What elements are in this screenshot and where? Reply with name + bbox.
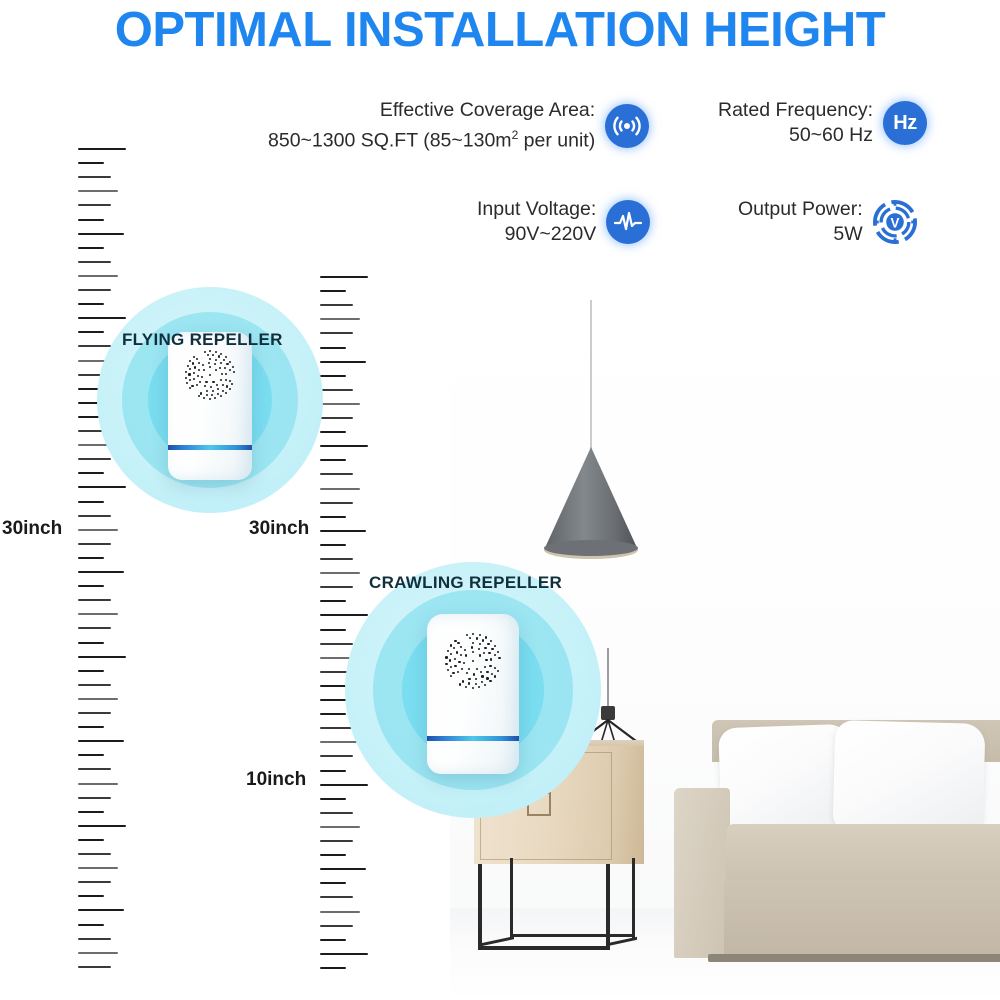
ruler-tick [78, 613, 118, 615]
ruler-tick [320, 488, 360, 490]
flying-repeller-device [168, 332, 252, 480]
ruler-tick [78, 599, 111, 601]
ruler-tick [320, 967, 346, 969]
nightstand-stretcher-back [510, 934, 635, 937]
ruler-tick [78, 740, 124, 742]
ruler-tick [78, 909, 124, 911]
spec-coverage-line2: 850~1300 SQ.FT (85~130m2 per unit) [268, 123, 595, 154]
spec-coverage-area: Effective Coverage Area: 850~1300 SQ.FT … [268, 98, 649, 154]
spec-voltage-line1: Input Voltage: [477, 198, 596, 220]
ruler-tick [320, 911, 360, 913]
ruler-tick [320, 798, 346, 800]
nightstand-stretcher-front [478, 946, 610, 950]
ruler-tick [78, 924, 104, 926]
ruler-tick [78, 881, 111, 883]
flying-repeller-group [96, 282, 324, 538]
ruler-tick [320, 473, 353, 475]
spec-frequency-text: Rated Frequency: 50~60 Hz [718, 98, 873, 148]
nightstand-leg-left [478, 864, 482, 950]
ruler-tick [78, 585, 104, 587]
ruler-tick [320, 770, 346, 772]
spec-voltage-line2: 90V~220V [477, 222, 596, 247]
ruler-tick [78, 783, 118, 785]
ruler-tick [78, 557, 104, 559]
ruler-tick [320, 318, 360, 320]
voltage-target-icon: V [873, 200, 917, 244]
ruler-tick [320, 445, 368, 447]
spec-frequency-line2: 50~60 Hz [718, 123, 873, 148]
ruler-tick [78, 204, 111, 206]
ruler-tick [78, 627, 111, 629]
svg-text:V: V [890, 215, 899, 230]
ruler-tick [78, 698, 118, 700]
flying-repeller-label: FLYING REPELLER [122, 330, 283, 350]
ruler-tick [320, 389, 353, 391]
ruler-tick [320, 882, 346, 884]
crawling-repeller-label: CRAWLING REPELLER [369, 573, 562, 593]
ruler-tick [78, 261, 111, 263]
hz-icon: Hz [883, 101, 927, 145]
spec-rated-frequency: Rated Frequency: 50~60 Hz Hz [718, 98, 927, 148]
ruler-tick [320, 276, 368, 278]
sofa-armrest [674, 788, 730, 958]
spec-power-text: Output Power: 5W [738, 197, 863, 247]
ruler-tick [78, 148, 126, 150]
ruler-tick [78, 684, 111, 686]
nightstand-leg-midback [510, 858, 513, 938]
ruler-tick [320, 544, 346, 546]
ruler-tick [320, 502, 353, 504]
ruler-tick [78, 811, 104, 813]
ruler-tick [78, 754, 104, 756]
nightstand-leg-midright [632, 858, 635, 938]
ruler-tick [320, 361, 366, 363]
ruler-tick [320, 925, 353, 927]
ruler-tick [320, 332, 353, 334]
flying-repeller-30inch-label: 30inch [249, 518, 309, 540]
ruler-tick [78, 642, 104, 644]
spec-power-line2: 5W [738, 222, 863, 247]
ruler-tick [78, 275, 118, 277]
ruler-tick [320, 629, 346, 631]
speaker-grille [184, 349, 236, 401]
ruler-tick [78, 571, 124, 573]
spec-frequency-line1: Rated Frequency: [718, 99, 873, 121]
ruler-tick [78, 670, 104, 672]
sofa-foot [708, 954, 1000, 962]
nightstand-stretcher-side-right [607, 937, 637, 946]
ruler-tick [78, 966, 111, 968]
ruler-left [78, 148, 126, 988]
ruler-left-30inch-label: 30inch [2, 518, 62, 540]
ruler-tick [78, 726, 104, 728]
ruler-tick [78, 162, 104, 164]
waveform-pulse-icon [606, 200, 650, 244]
ruler-tick [320, 868, 366, 870]
ruler-tick [320, 417, 353, 419]
nightstand-leg-right [606, 864, 610, 950]
ruler-tick [78, 853, 111, 855]
spec-coverage-line1: Effective Coverage Area: [380, 99, 595, 121]
sofa-base [724, 880, 1000, 958]
ruler-tick [78, 867, 118, 869]
spec-voltage-text: Input Voltage: 90V~220V [477, 197, 596, 247]
ruler-tick [78, 656, 126, 658]
ruler-tick [78, 825, 126, 827]
ruler-tick [78, 233, 124, 235]
ruler-tick [320, 939, 346, 941]
ruler-tick [78, 797, 111, 799]
ruler-tick [320, 896, 353, 898]
infographic-canvas: OPTIMAL INSTALLATION HEIGHT Effective Co… [0, 0, 1000, 1000]
led-indicator-strip [427, 736, 519, 741]
wire-lamp-cord [607, 648, 609, 710]
ruler-tick [320, 685, 346, 687]
ruler-tick [78, 190, 118, 192]
ruler-tick [320, 840, 353, 842]
speaker-grille [444, 632, 502, 690]
ruler-tick [320, 854, 346, 856]
ruler-tick [78, 839, 104, 841]
ruler-tick [78, 176, 111, 178]
led-indicator-strip [168, 445, 252, 450]
ruler-tick [320, 600, 346, 602]
hz-icon-label: Hz [893, 112, 916, 135]
ruler-right-10inch-label: 10inch [246, 769, 306, 791]
spec-power-line1: Output Power: [738, 198, 863, 220]
ruler-tick [320, 953, 368, 955]
ruler-tick [320, 713, 346, 715]
spec-coverage-text: Effective Coverage Area: 850~1300 SQ.FT … [268, 98, 595, 154]
ruler-tick [320, 304, 353, 306]
ruler-tick [78, 895, 104, 897]
sofa [646, 720, 1000, 1000]
ruler-tick [78, 768, 111, 770]
ruler-tick [78, 952, 118, 954]
crawling-repeller-device [427, 614, 519, 774]
ruler-tick [320, 403, 360, 405]
ruler-tick [78, 712, 111, 714]
ruler-tick [78, 219, 104, 221]
page-title: OPTIMAL INSTALLATION HEIGHT [0, 2, 1000, 58]
ruler-tick [78, 247, 104, 249]
pendant-lamp-cord [590, 300, 592, 450]
signal-waves-icon [605, 104, 649, 148]
ruler-tick [78, 938, 111, 940]
ruler-tick [78, 543, 111, 545]
sofa-seat-cushion [726, 824, 1000, 884]
spec-output-power: Output Power: 5W V [738, 197, 917, 247]
spec-input-voltage: Input Voltage: 90V~220V [477, 197, 650, 247]
pillow-right [833, 720, 986, 836]
